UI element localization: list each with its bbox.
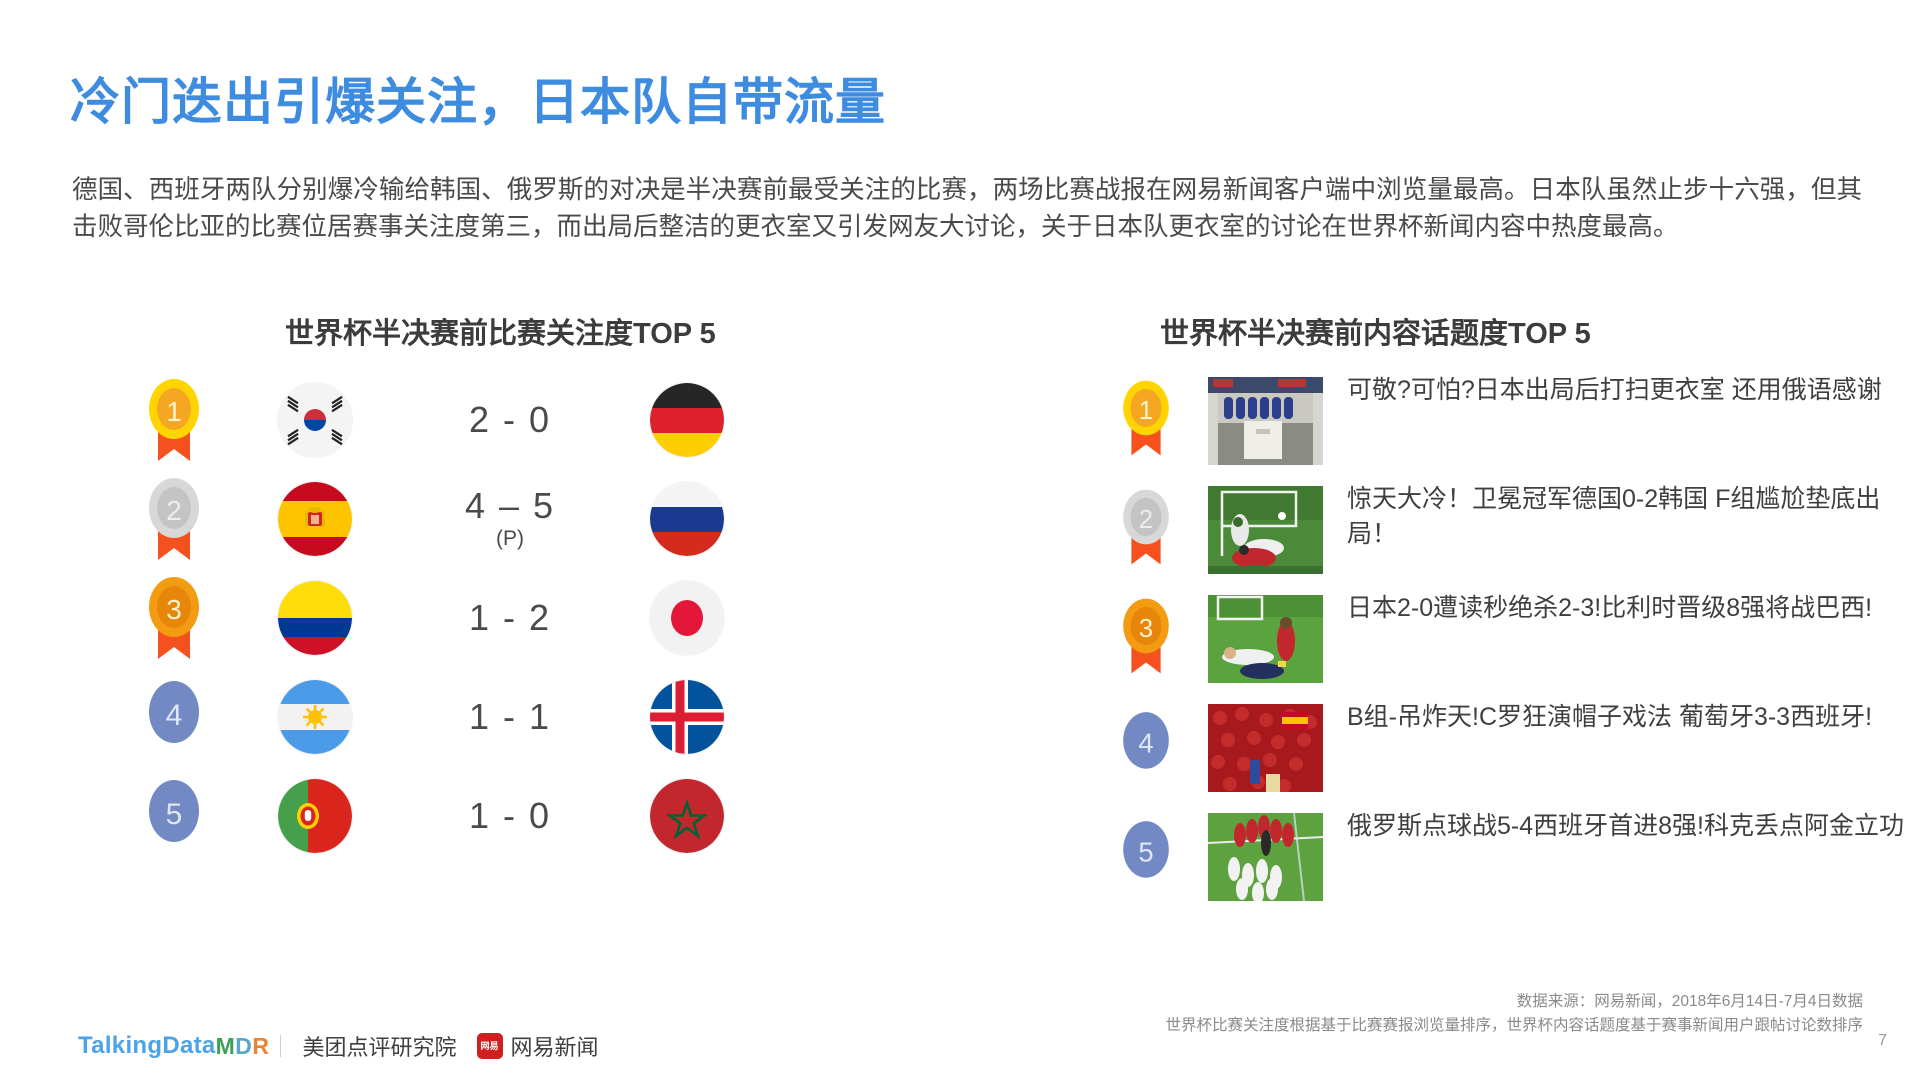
topic-thumbnail: [1208, 595, 1323, 683]
source-line-1: 数据来源：网易新闻，2018年6月14日-7月4日数据: [1165, 990, 1863, 1014]
home-team-flag-icon: [278, 779, 352, 853]
svg-text:1: 1: [166, 396, 182, 427]
svg-text:3: 3: [166, 594, 182, 625]
match-score: 4 – 5 (P): [410, 474, 610, 564]
topic-row[interactable]: 5 俄罗斯点球战5-4西班牙首进8强!科克丢点阿金立功: [1115, 811, 1905, 920]
match-score: 1 - 2: [410, 573, 610, 663]
rank-medal-icon: 5: [140, 771, 208, 861]
svg-text:5: 5: [1138, 836, 1153, 867]
rank-medal-icon: 3: [1115, 593, 1177, 679]
rank-medal-icon: 1: [140, 375, 208, 465]
away-team-flag-icon: [650, 482, 724, 556]
svg-text:4: 4: [1138, 727, 1153, 758]
lede-paragraph: 德国、西班牙两队分别爆冷输给韩国、俄罗斯的对决是半决赛前最受关注的比赛，两场比赛…: [72, 172, 1862, 246]
rank-medal-icon: 1: [1115, 375, 1177, 461]
rank-medal-icon: 3: [140, 573, 208, 663]
slide-page: 冷门迭出引爆关注，日本队自带流量 德国、西班牙两队分别爆冷输给韩国、俄罗斯的对决…: [0, 0, 1921, 1080]
mdr-logo: MDR: [216, 1033, 270, 1060]
away-team-flag-icon: [650, 581, 724, 655]
talkingdata-logo: TalkingData: [78, 1032, 216, 1060]
home-team-flag-icon: [278, 581, 352, 655]
topic-headline: 可敬?可怕?日本出局后打扫更衣室 还用俄语感谢: [1347, 373, 1907, 408]
topic-headline: 惊天大冷！卫冕冠军德国0-2韩国 F组尴尬垫底出局！: [1347, 482, 1907, 552]
right-panel-heading: 世界杯半决赛前内容话题度TOP 5: [1160, 310, 1591, 352]
match-row: 3 1 - 2: [120, 573, 940, 672]
away-team-flag-icon: [650, 680, 724, 754]
score-value: 1 - 1: [469, 698, 551, 736]
svg-text:4: 4: [166, 699, 183, 732]
rank-medal-icon: 4: [1115, 702, 1177, 788]
rank-medal-icon: 2: [140, 474, 208, 564]
topic-thumbnail: [1208, 813, 1323, 901]
score-value: 4 – 5: [465, 487, 555, 525]
match-score: 1 - 1: [410, 672, 610, 762]
topic-thumbnail: [1208, 704, 1323, 792]
brand-divider: [280, 1035, 281, 1057]
topic-headline: 俄罗斯点球战5-4西班牙首进8强!科克丢点阿金立功: [1347, 809, 1907, 844]
topic-row[interactable]: 2 惊天大冷！卫冕冠军德国0-2韩国 F组尴尬垫底出局！: [1115, 484, 1905, 593]
home-team-flag-icon: [278, 482, 352, 556]
match-score: 1 - 0: [410, 771, 610, 861]
meituan-research-label: 美团点评研究院: [302, 1030, 456, 1062]
topic-row[interactable]: 4 B组-吊炸天!C罗狂演帽子戏法 葡萄牙3-3西班牙!: [1115, 702, 1905, 811]
away-team-flag-icon: [650, 383, 724, 457]
score-note: (P): [496, 526, 524, 551]
netease-chip-icon: 网易: [477, 1033, 503, 1059]
topic-row[interactable]: 3 日本2-0遭读秒绝杀2-3!比利时晋级8强将战巴西!: [1115, 593, 1905, 702]
svg-text:2: 2: [166, 495, 182, 526]
home-team-flag-icon: [278, 383, 352, 457]
match-row: 5 1 - 0: [120, 771, 940, 870]
page-title: 冷门迭出引爆关注，日本队自带流量: [70, 62, 886, 134]
svg-text:2: 2: [1139, 506, 1153, 534]
score-value: 1 - 0: [469, 797, 551, 835]
score-value: 2 - 0: [469, 401, 551, 439]
score-value: 1 - 2: [469, 599, 551, 637]
svg-text:5: 5: [166, 798, 183, 831]
topic-thumbnail: [1208, 377, 1323, 465]
svg-text:1: 1: [1139, 397, 1153, 425]
match-row: 4 1 - 1: [120, 672, 940, 771]
source-note: 数据来源：网易新闻，2018年6月14日-7月4日数据 世界杯比赛关注度根据基于…: [1165, 990, 1863, 1038]
topic-thumbnail: [1208, 486, 1323, 574]
left-panel-heading: 世界杯半决赛前比赛关注度TOP 5: [285, 310, 716, 352]
match-row: 1 2 - 0: [120, 375, 940, 474]
match-row: 2 4 – 5 (P): [120, 474, 940, 573]
page-number: 7: [1878, 1032, 1887, 1050]
topic-headline: 日本2-0遭读秒绝杀2-3!比利时晋级8强将战巴西!: [1347, 591, 1907, 626]
topic-row[interactable]: 1 可敬?可怕?日本出局后打扫更衣室 还用俄语感谢: [1115, 375, 1905, 484]
rank-medal-icon: 5: [1115, 811, 1177, 897]
brand-bar: TalkingData MDR 美团点评研究院 网易 网易新闻: [78, 1030, 599, 1062]
away-team-flag-icon: [650, 779, 724, 853]
topic-headline: B组-吊炸天!C罗狂演帽子戏法 葡萄牙3-3西班牙!: [1347, 700, 1907, 735]
home-team-flag-icon: [278, 680, 352, 754]
netease-news-label: 网易新闻: [511, 1030, 599, 1062]
svg-text:3: 3: [1139, 615, 1153, 643]
rank-medal-icon: 2: [1115, 484, 1177, 570]
rank-medal-icon: 4: [140, 672, 208, 762]
match-list: 1 2 - 0: [120, 375, 940, 870]
source-line-2: 世界杯比赛关注度根据基于比赛赛报浏览量排序，世界杯内容话题度基于赛事新闻用户跟帖…: [1165, 1014, 1863, 1038]
match-score: 2 - 0: [410, 375, 610, 465]
topic-list: 1 可敬?可怕?日本出局后打扫更衣室 还用俄语感谢 2: [1115, 375, 1905, 920]
